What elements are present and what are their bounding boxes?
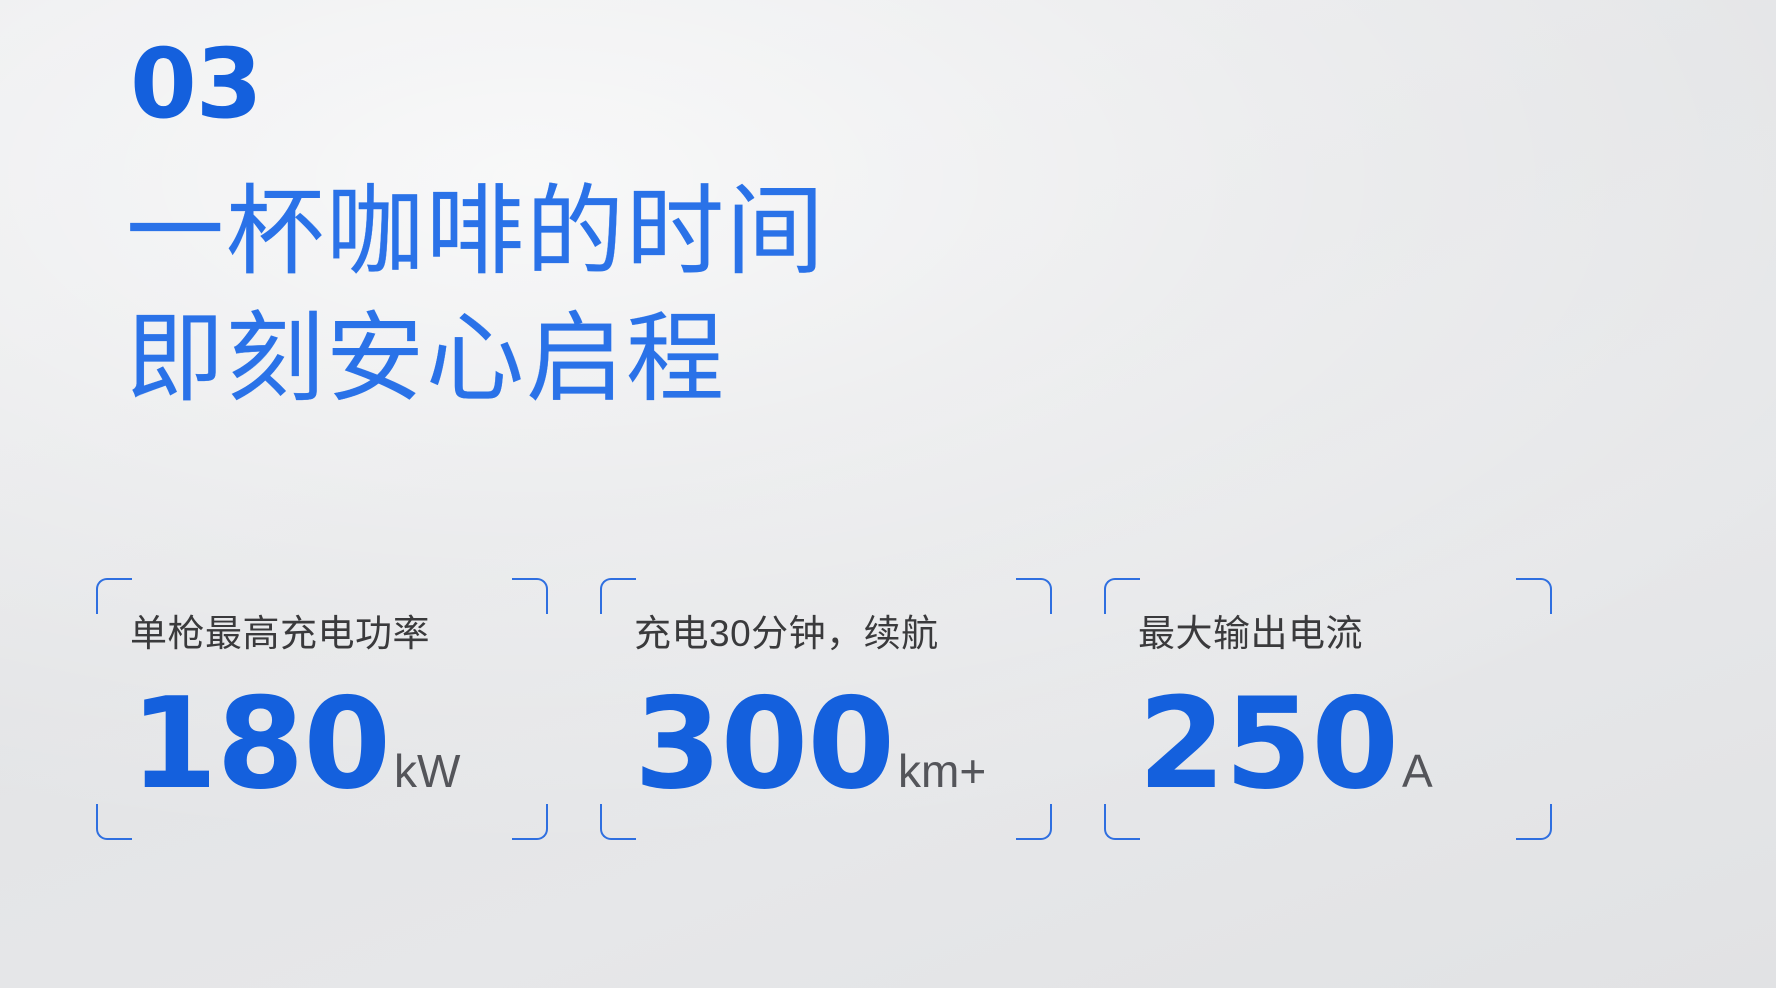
corner-bracket-bottom-right-icon	[512, 804, 548, 840]
stat-card-max-output-current: 最大输出电流 250 A	[1104, 578, 1552, 840]
stat-label: 最大输出电流	[1138, 614, 1518, 655]
stat-number: 250	[1138, 681, 1398, 807]
corner-bracket-top-right-icon	[1516, 578, 1552, 614]
corner-bracket-top-right-icon	[1016, 578, 1052, 614]
corner-bracket-bottom-left-icon	[96, 804, 132, 840]
headline-line-2: 即刻安心启程	[126, 295, 826, 422]
stat-card-charging-power: 单枪最高充电功率 180 kW	[96, 578, 548, 840]
corner-bracket-top-left-icon	[1104, 578, 1140, 614]
stat-unit: kW	[394, 748, 460, 794]
stats-row: 单枪最高充电功率 180 kW 充电30分钟，续航 300 km+ 最大输出电流	[96, 578, 1552, 840]
corner-bracket-top-right-icon	[512, 578, 548, 614]
stat-value-row: 300 km+	[634, 681, 1018, 807]
headline-line-1: 一杯咖啡的时间	[126, 168, 826, 295]
section-number: 03	[130, 36, 262, 132]
stat-label: 单枪最高充电功率	[130, 614, 514, 655]
corner-bracket-top-left-icon	[96, 578, 132, 614]
corner-bracket-bottom-left-icon	[1104, 804, 1140, 840]
stat-unit: A	[1402, 748, 1433, 794]
promo-slide: 03 一杯咖啡的时间 即刻安心启程 单枪最高充电功率 180 kW 充电30分钟…	[0, 0, 1776, 988]
corner-bracket-bottom-left-icon	[600, 804, 636, 840]
stat-value-row: 250 A	[1138, 681, 1518, 807]
headline: 一杯咖啡的时间 即刻安心启程	[126, 168, 826, 423]
corner-bracket-top-left-icon	[600, 578, 636, 614]
corner-bracket-bottom-right-icon	[1516, 804, 1552, 840]
stat-card-range-per-30min: 充电30分钟，续航 300 km+	[600, 578, 1052, 840]
stat-label: 充电30分钟，续航	[634, 614, 1018, 655]
stat-number: 180	[130, 681, 390, 807]
stat-number: 300	[634, 681, 894, 807]
stat-unit: km+	[898, 748, 986, 794]
corner-bracket-bottom-right-icon	[1016, 804, 1052, 840]
stat-value-row: 180 kW	[130, 681, 514, 807]
